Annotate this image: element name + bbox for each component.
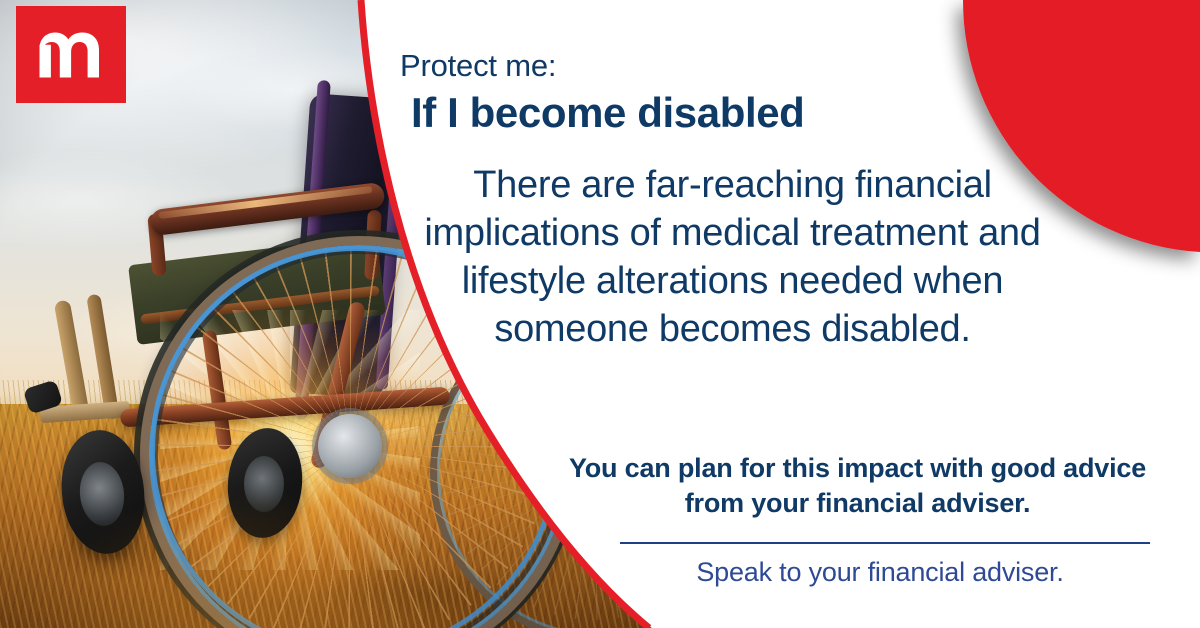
kicker-text: Protect me: bbox=[400, 50, 556, 83]
page-title: If I become disabled bbox=[411, 91, 804, 135]
divider-rule bbox=[620, 542, 1150, 544]
logo-letter-m-icon bbox=[38, 32, 104, 78]
body-paragraph: There are far-reaching financial implica… bbox=[420, 162, 1045, 354]
brand-logo[interactable] bbox=[16, 6, 126, 103]
cta-text: You can plan for this impact with good a… bbox=[560, 451, 1155, 521]
banner-canvas: Protect me: If I become disabled There a… bbox=[0, 0, 1200, 628]
footer-call-to-action: Speak to your financial adviser. bbox=[600, 557, 1160, 588]
